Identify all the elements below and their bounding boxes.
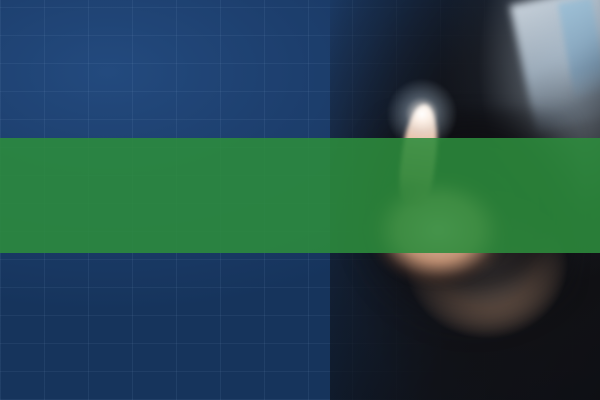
title-banner: [0, 138, 600, 253]
thumbnail-image: [0, 0, 600, 400]
